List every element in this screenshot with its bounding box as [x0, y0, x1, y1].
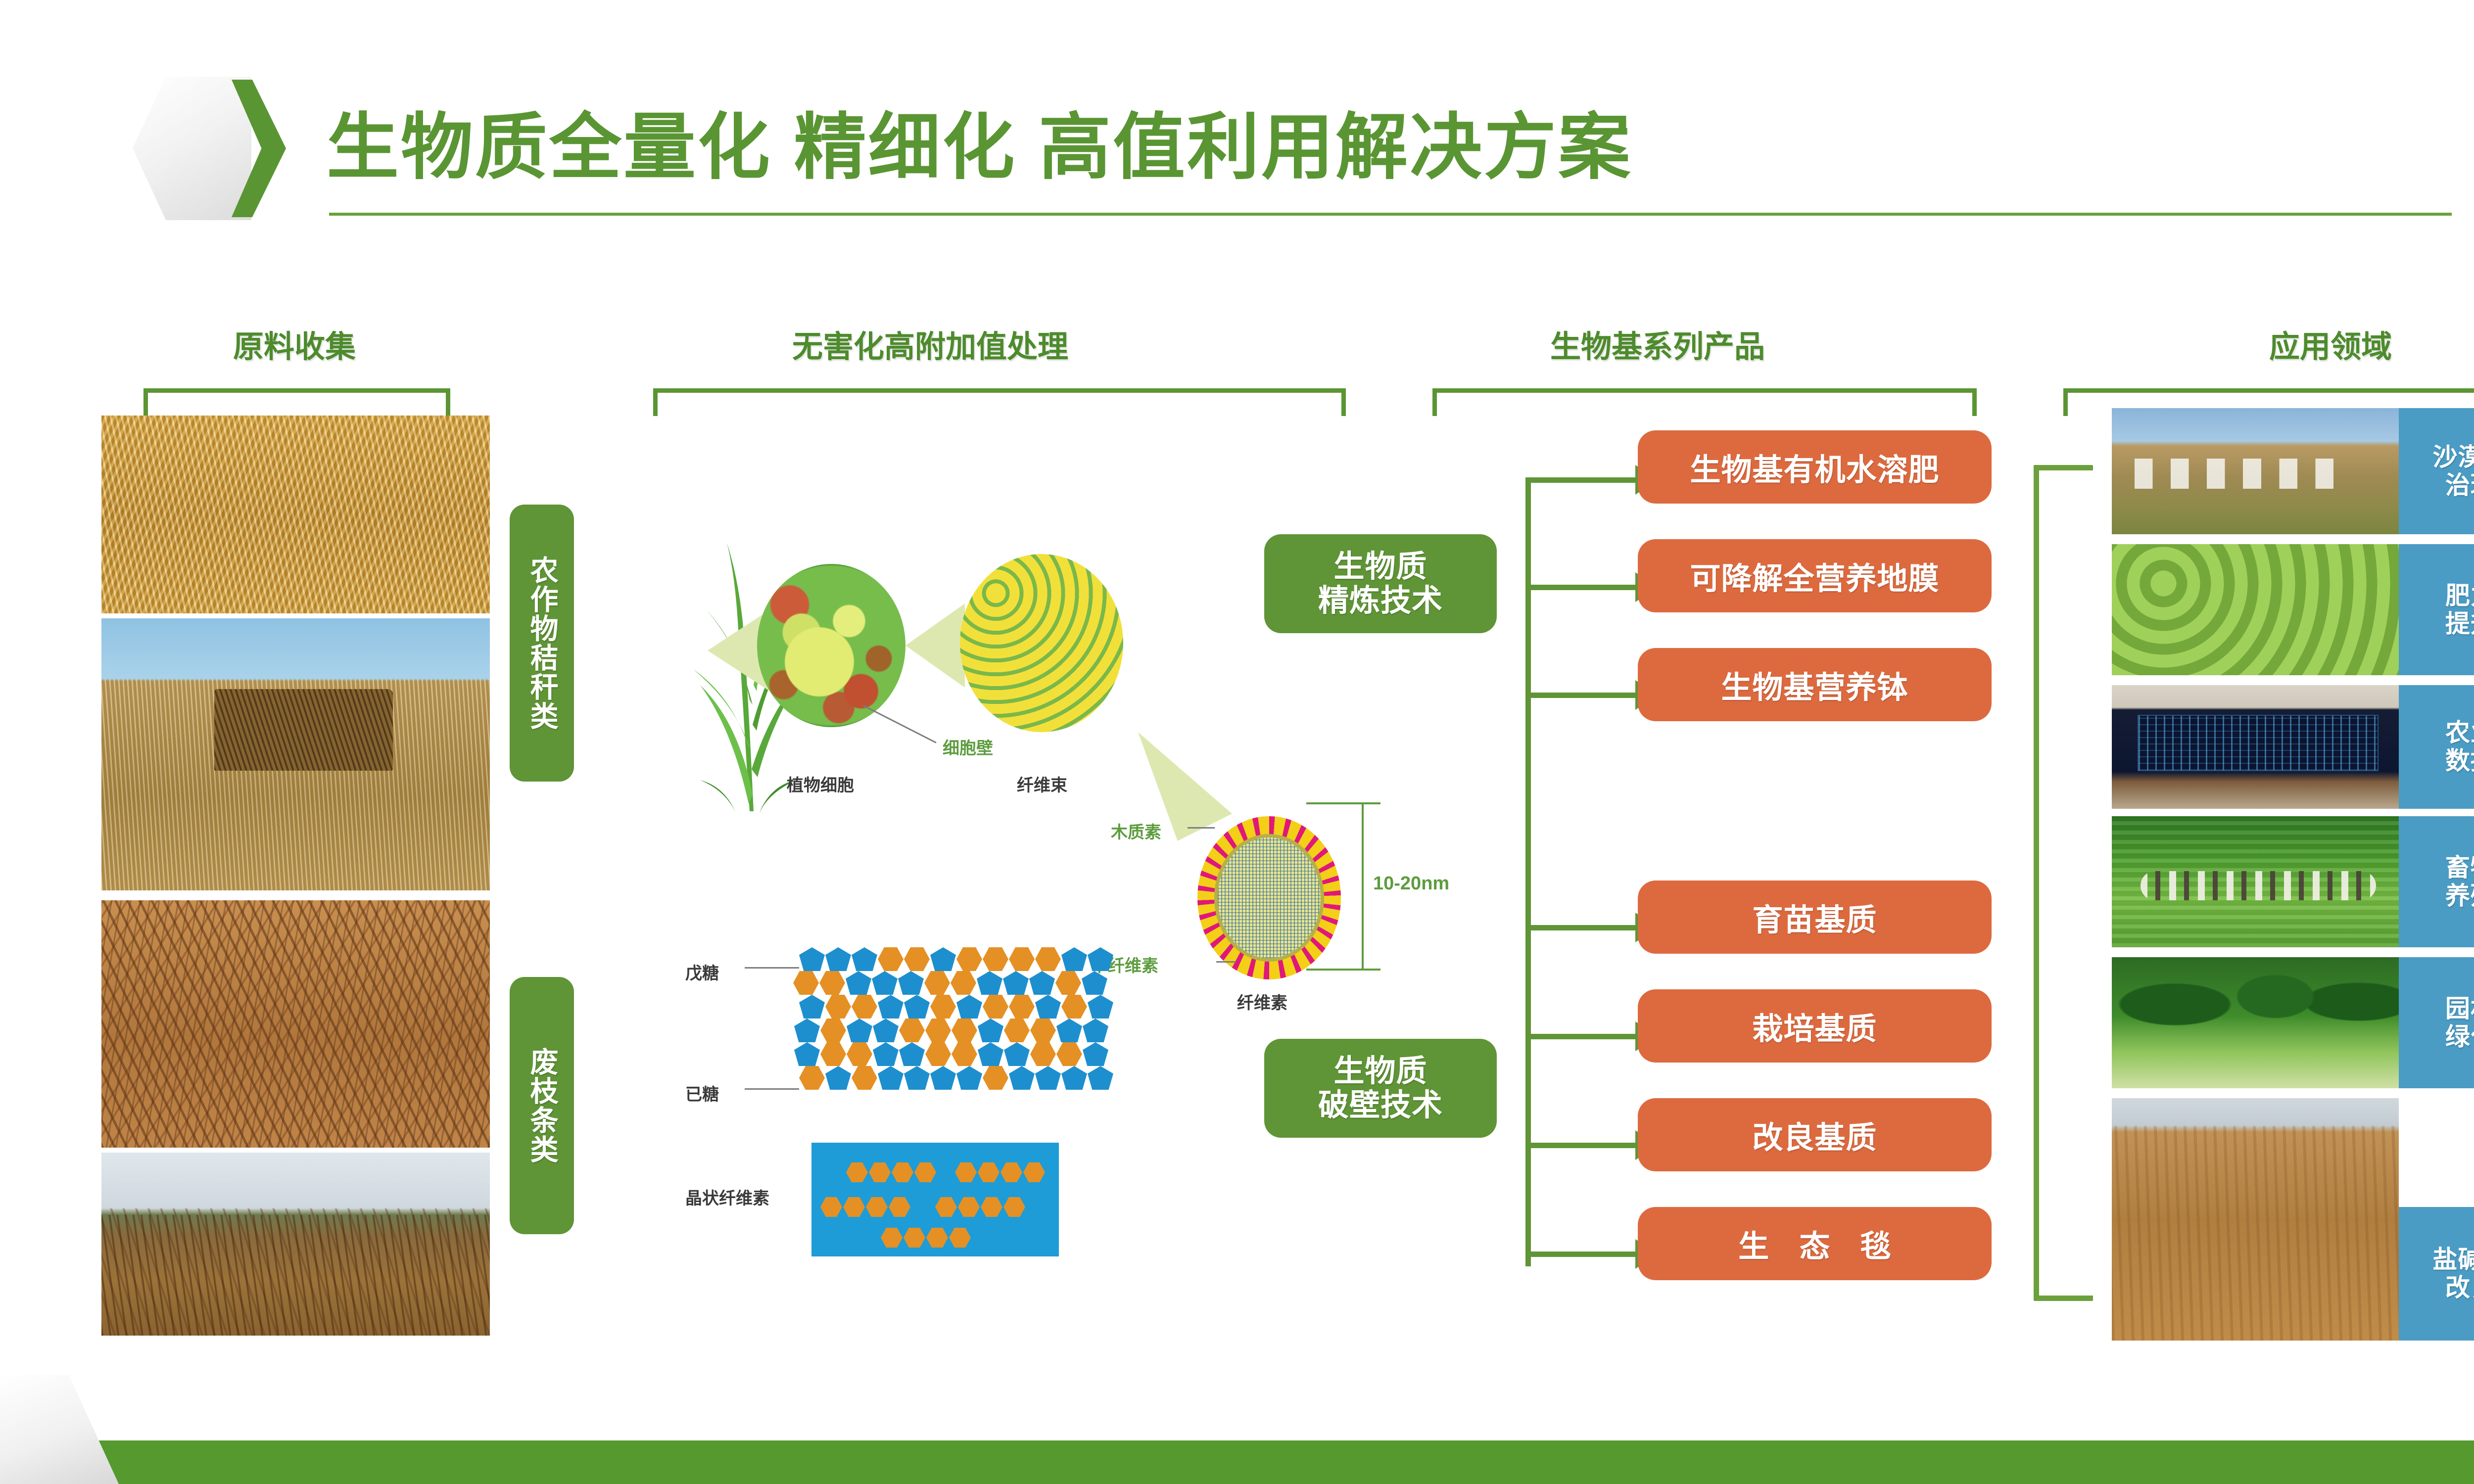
- plant-cell-illustration: [757, 564, 905, 727]
- bracket-applications-group: [2034, 465, 2093, 1301]
- application-line2: 养殖: [2445, 882, 2474, 910]
- feedstock-category-label: 农作物秸秆类: [527, 556, 556, 731]
- tech-pill-refining[interactable]: 生物质 精炼技术: [1264, 534, 1497, 633]
- product-pill-cultivation-substrate[interactable]: 栽培基质: [1638, 989, 1992, 1063]
- application-label-agriculture-data: 农业 数据: [2399, 685, 2474, 809]
- product-pill-water-soluble-fertilizer[interactable]: 生物基有机水溶肥: [1638, 430, 1992, 504]
- footer-bar: [0, 1440, 2474, 1484]
- application-label-saline-alkali-improvement: 盐碱地 改良: [2399, 1207, 2474, 1341]
- title-underline: [329, 213, 2452, 216]
- label-hexose: 已糖: [685, 1081, 719, 1105]
- lignin-leader-line: [1188, 827, 1215, 829]
- connector-wallbreaking-branch-1: [1525, 925, 1639, 930]
- connector-wallbreaking-branch-4: [1525, 1252, 1639, 1257]
- application-line1: 沙漠化: [2433, 443, 2474, 471]
- application-line1: 园林: [2445, 995, 2474, 1023]
- product-pill-seedling-substrate[interactable]: 育苗基质: [1638, 881, 1992, 954]
- product-pill-nutrition-pot[interactable]: 生物基营养钵: [1638, 648, 1992, 721]
- product-pill-biodegradable-mulch-film[interactable]: 可降解全营养地膜: [1638, 539, 1992, 612]
- cell-wall-leader-line: [863, 705, 936, 743]
- photo-sheep-grazing: [2112, 816, 2399, 947]
- application-line1: 肥力: [2445, 582, 2474, 610]
- tech-pill-line2: 破壁技术: [1318, 1088, 1443, 1122]
- cellulose-microfibril-illustration: [1197, 816, 1341, 979]
- photo-orchard-pruning-site: [101, 1153, 490, 1336]
- product-label: 栽培基质: [1752, 1004, 1877, 1048]
- dimension-line-bottom: [1306, 969, 1380, 971]
- bracket-products: [1432, 388, 1977, 416]
- application-line1: 畜牧: [2445, 854, 2474, 882]
- application-line2: 治理: [2445, 471, 2474, 500]
- zoom-cone-2: [905, 603, 965, 688]
- fiber-bundle-illustration: [960, 554, 1123, 732]
- tech-pill-line2: 精炼技术: [1318, 584, 1443, 618]
- bracket-feedstock: [143, 388, 450, 416]
- sugar-chain-diagram: [799, 947, 1121, 1120]
- application-line2: 绿化: [2445, 1023, 2474, 1051]
- feedstock-category-waste-branches: 废枝条类: [510, 977, 574, 1234]
- connector-refining-branch-3: [1525, 693, 1639, 698]
- tech-pill-wall-breaking[interactable]: 生物质 破壁技术: [1264, 1039, 1497, 1138]
- label-fiber-bundle: 纤维束: [1017, 772, 1067, 796]
- bracket-processing: [653, 388, 1346, 416]
- connector-wallbreaking-branch-2: [1525, 1034, 1639, 1039]
- connector-refining-spine: [1525, 477, 1531, 972]
- product-pill-ecological-blanket[interactable]: 生 态 毯: [1638, 1207, 1992, 1280]
- photo-cabbage-field: [2112, 544, 2399, 675]
- tech-pill-line1: 生物质: [1333, 550, 1427, 584]
- application-label-livestock-breeding: 畜牧 养殖: [2399, 816, 2474, 947]
- label-fibril-dimension: 10-20nm: [1373, 873, 1449, 894]
- connector-refining-branch-2: [1525, 585, 1639, 590]
- application-label-landscape-greening: 园林 绿化: [2399, 957, 2474, 1088]
- label-pentose: 戊糖: [685, 960, 719, 984]
- feedstock-category-crop-straw: 农作物秸秆类: [510, 505, 574, 782]
- photo-corn-stover-field: [101, 416, 490, 613]
- dimension-line-vertical: [1362, 802, 1364, 971]
- product-label: 育苗基质: [1752, 895, 1877, 939]
- label-plant-cell: 植物细胞: [787, 772, 854, 796]
- product-pill-improvement-substrate[interactable]: 改良基质: [1638, 1098, 1992, 1171]
- product-label: 可降解全营养地膜: [1690, 554, 1939, 598]
- label-cell-wall: 细胞壁: [943, 735, 993, 759]
- photo-data-control-room: [2112, 685, 2399, 809]
- product-label: 改良基质: [1752, 1113, 1877, 1157]
- connector-wallbreaking-spine: [1525, 925, 1531, 1266]
- label-cellulose: 纤维素: [1237, 989, 1287, 1014]
- column-heading-applications: 应用领域: [2172, 322, 2474, 366]
- slide-canvas: 生物质全量化 精细化 高值利用解决方案 原料收集 无害化高附加值处理 生物基系列…: [0, 0, 2474, 1484]
- application-line2: 改良: [2445, 1274, 2474, 1302]
- hexagon-grey-shape: [133, 77, 251, 220]
- tech-pill-line1: 生物质: [1333, 1054, 1427, 1088]
- photo-pruned-branches-pile: [101, 900, 490, 1148]
- page-title: 生物质全量化 精细化 高值利用解决方案: [327, 89, 1632, 193]
- connector-refining-branch-1: [1525, 477, 1639, 483]
- pentose-leader-line: [745, 967, 799, 969]
- column-heading-processing: 无害化高附加值处理: [683, 322, 1178, 366]
- hexose-leader-line: [745, 1088, 799, 1090]
- dimension-line-top: [1306, 802, 1380, 804]
- photo-saline-alkali-soil: [2112, 1098, 2399, 1341]
- application-line1: 农业: [2445, 719, 2474, 747]
- crystalline-cellulose-diagram: [811, 1143, 1059, 1256]
- hexagon-badge-icon: [133, 77, 281, 220]
- label-lignin: 木质素: [1111, 819, 1161, 843]
- product-label: 生物基营养钵: [1721, 662, 1908, 707]
- feedstock-category-label: 废枝条类: [527, 1047, 556, 1164]
- application-line2: 提升: [2445, 610, 2474, 638]
- application-label-desertification-control: 沙漠化 治理: [2399, 408, 2474, 534]
- hemicellulose-leader-line: [1216, 961, 1236, 963]
- label-crystalline-cellulose: 晶状纤维素: [685, 1185, 769, 1209]
- connector-wallbreaking-branch-3: [1525, 1143, 1639, 1148]
- column-heading-products: 生物基系列产品: [1460, 322, 1855, 366]
- application-line2: 数据: [2445, 747, 2474, 775]
- footer-corner-wedge: [0, 1375, 119, 1484]
- product-label: 生 态 毯: [1727, 1221, 1902, 1266]
- product-label: 生物基有机水溶肥: [1690, 445, 1939, 489]
- application-label-fertility-improvement: 肥力 提升: [2399, 544, 2474, 675]
- photo-desert-restoration: [2112, 408, 2399, 534]
- photo-baled-straw-field: [101, 618, 490, 890]
- column-heading-feedstock: 原料收集: [178, 322, 411, 366]
- photo-park-greening: [2112, 957, 2399, 1088]
- application-line1: 盐碱地: [2433, 1246, 2474, 1274]
